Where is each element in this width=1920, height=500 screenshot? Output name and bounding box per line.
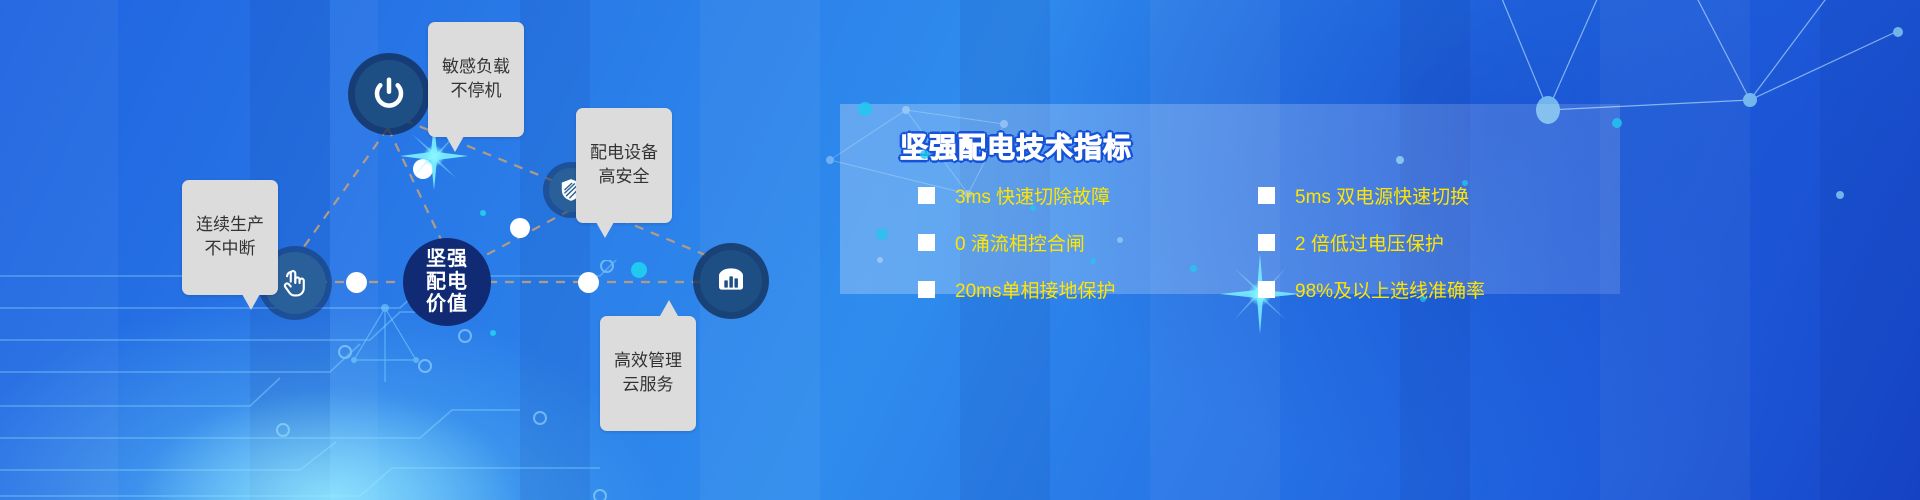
metric-text: 20ms单相接地保护 [955, 276, 1115, 303]
value-network-diagram: 坚强 配电 价值 敏感负载 不停机 配电设备 高安全 连续生产 不中断 高效管理… [0, 0, 880, 500]
callout-text: 敏感负载 不停机 [442, 57, 510, 100]
callout-text: 配电设备 高安全 [590, 143, 658, 186]
callout-cloud-management[interactable]: 高效管理 云服务 [600, 316, 696, 431]
metric-text: 5ms 双电源快速切换 [1295, 182, 1469, 209]
metric-item: 98%及以上选线准确率 [1258, 276, 1578, 303]
link-dot [510, 218, 530, 238]
link-dot-accent [480, 210, 486, 216]
bullet-icon [918, 281, 935, 298]
metric-text: 0 涌流相控合闸 [955, 229, 1085, 256]
metrics-list: 3ms 快速切除故障 5ms 双电源快速切换 0 涌流相控合闸 2 倍低过电压保… [918, 182, 1578, 303]
bullet-icon [1258, 281, 1275, 298]
bar-chart-icon [715, 265, 747, 297]
callout-tail [446, 136, 464, 152]
callout-tail [596, 222, 614, 238]
center-node-label: 坚强 配电 价值 [426, 248, 468, 315]
metric-text: 98%及以上选线准确率 [1295, 276, 1485, 303]
node-bar-chart[interactable] [700, 250, 762, 312]
bullet-icon [1258, 234, 1275, 251]
metric-item: 0 涌流相控合闸 [918, 229, 1238, 256]
banner-stage: 坚强 配电 价值 敏感负载 不停机 配电设备 高安全 连续生产 不中断 高效管理… [0, 0, 1920, 500]
metric-item: 3ms 快速切除故障 [918, 182, 1238, 209]
link-dot-accent [490, 330, 496, 336]
panel-title: 坚强配电技术指标 [900, 126, 1132, 166]
bullet-icon [918, 234, 935, 251]
bokeh-dot [1190, 265, 1197, 272]
bokeh-dot [1462, 180, 1468, 186]
callout-tail [242, 294, 260, 310]
metric-item: 20ms单相接地保护 [918, 276, 1238, 303]
link-dot [413, 159, 433, 179]
bokeh-dot [1030, 205, 1036, 211]
metrics-panel: 坚强配电技术指标 3ms 快速切除故障 5ms 双电源快速切换 0 涌流相控合闸… [840, 104, 1620, 294]
callout-text: 连续生产 不中断 [196, 215, 264, 258]
bokeh-dot [1420, 296, 1426, 302]
bokeh-dot [1090, 258, 1096, 264]
power-icon [371, 76, 407, 112]
bokeh-dot [1612, 118, 1622, 128]
bokeh-dot [920, 150, 929, 159]
metric-item: 5ms 双电源快速切换 [1258, 182, 1578, 209]
center-node[interactable]: 坚强 配电 价值 [403, 238, 491, 326]
callout-text: 高效管理 云服务 [614, 351, 682, 394]
link-dot [578, 272, 599, 293]
callout-equipment-safety[interactable]: 配电设备 高安全 [576, 108, 672, 223]
bullet-icon [918, 187, 935, 204]
callout-tail [660, 300, 678, 316]
node-power[interactable] [355, 60, 423, 128]
bullet-icon [1258, 187, 1275, 204]
metric-item: 2 倍低过电压保护 [1258, 229, 1578, 256]
bokeh-dot [876, 228, 888, 240]
hand-click-icon [278, 266, 312, 300]
metric-text: 2 倍低过电压保护 [1295, 229, 1444, 256]
callout-continuous-production[interactable]: 连续生产 不中断 [182, 180, 278, 295]
callout-sensitive-load[interactable]: 敏感负载 不停机 [428, 22, 524, 137]
link-dot-accent [631, 262, 647, 278]
bokeh-dot [858, 102, 872, 116]
link-dot [346, 272, 367, 293]
